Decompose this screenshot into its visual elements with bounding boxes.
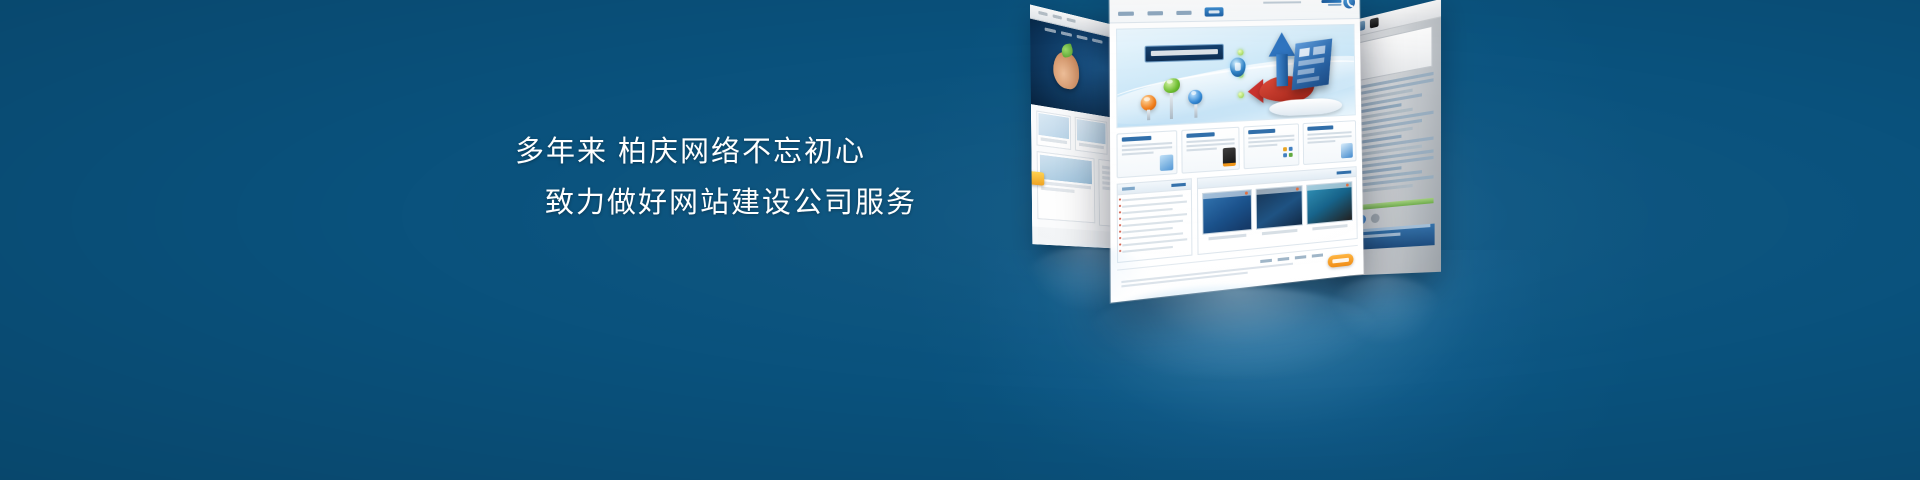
up-arrow-icon <box>1268 32 1295 57</box>
news-item[interactable] <box>1122 195 1183 202</box>
site-nav <box>1118 7 1224 18</box>
news-item[interactable] <box>1122 208 1173 214</box>
app-icon-dark <box>1370 17 1379 28</box>
footer-link[interactable] <box>1278 257 1290 261</box>
news-list <box>1118 190 1192 262</box>
nav-item-active[interactable] <box>1205 7 1224 16</box>
globe-stand <box>1147 110 1150 121</box>
headline-block: 多年来 柏庆网络不忘初心 致力做好网站建设公司服务 <box>515 132 985 223</box>
feature-card[interactable] <box>1181 127 1239 174</box>
feature-card[interactable] <box>1116 130 1177 178</box>
footer-cta-button[interactable] <box>1328 253 1354 268</box>
headline-line-2: 致力做好网站建设公司服务 <box>515 183 985 223</box>
cases-panel <box>1197 166 1358 255</box>
feature-card[interactable] <box>1243 123 1299 169</box>
dot-icon-grey <box>1371 213 1380 223</box>
footer-link[interactable] <box>1312 253 1323 257</box>
news-item[interactable] <box>1122 201 1187 208</box>
case-thumbnail[interactable] <box>1307 181 1353 231</box>
case-thumbnail[interactable] <box>1255 185 1303 236</box>
header-tagline <box>1252 0 1301 6</box>
feature-card[interactable] <box>1303 120 1357 165</box>
background-vignette <box>0 0 1920 480</box>
thumbnail <box>1040 155 1092 185</box>
logo-swirl-icon <box>1343 0 1355 9</box>
left-feature-block <box>1037 151 1096 223</box>
bullet-dot-icon <box>1238 49 1244 55</box>
case-thumbnail[interactable] <box>1202 189 1252 241</box>
news-item[interactable] <box>1122 238 1187 246</box>
data-cube-graphic <box>1292 38 1333 90</box>
product-tile <box>1075 117 1108 155</box>
grid-dots-icon <box>1283 147 1295 163</box>
nav-item[interactable] <box>1118 11 1134 15</box>
center-screen-mockup <box>1109 0 1363 303</box>
nav-item[interactable] <box>1147 11 1163 15</box>
hero-banner: 多年来 柏庆网络不忘初心 致力做好网站建设公司服务 <box>0 0 1920 480</box>
site-hero-banner <box>1116 24 1356 128</box>
up-arrow-stem <box>1276 54 1288 86</box>
text-line <box>1041 187 1075 194</box>
website-showcase <box>1020 0 1440 400</box>
globe-stand <box>1194 104 1197 118</box>
product-tile <box>1036 110 1071 150</box>
logo-wordmark <box>1321 0 1341 5</box>
nav-item[interactable] <box>1176 10 1191 14</box>
monitor-icon <box>1341 143 1353 159</box>
news-panel <box>1117 178 1193 263</box>
hero-title-plate <box>1145 44 1224 63</box>
phone-icon <box>1223 147 1236 166</box>
corner-badge <box>1030 171 1044 186</box>
news-item[interactable] <box>1122 220 1183 227</box>
news-item[interactable] <box>1122 227 1173 234</box>
globe-stand <box>1170 93 1173 119</box>
footer-link[interactable] <box>1260 259 1272 263</box>
folder-icon <box>1160 154 1174 171</box>
site-header <box>1109 0 1359 23</box>
news-item[interactable] <box>1122 246 1173 253</box>
headline-line-1: 多年来 柏庆网络不忘初心 <box>515 132 985 172</box>
footer-link[interactable] <box>1295 255 1306 259</box>
site-logo <box>1321 0 1355 9</box>
